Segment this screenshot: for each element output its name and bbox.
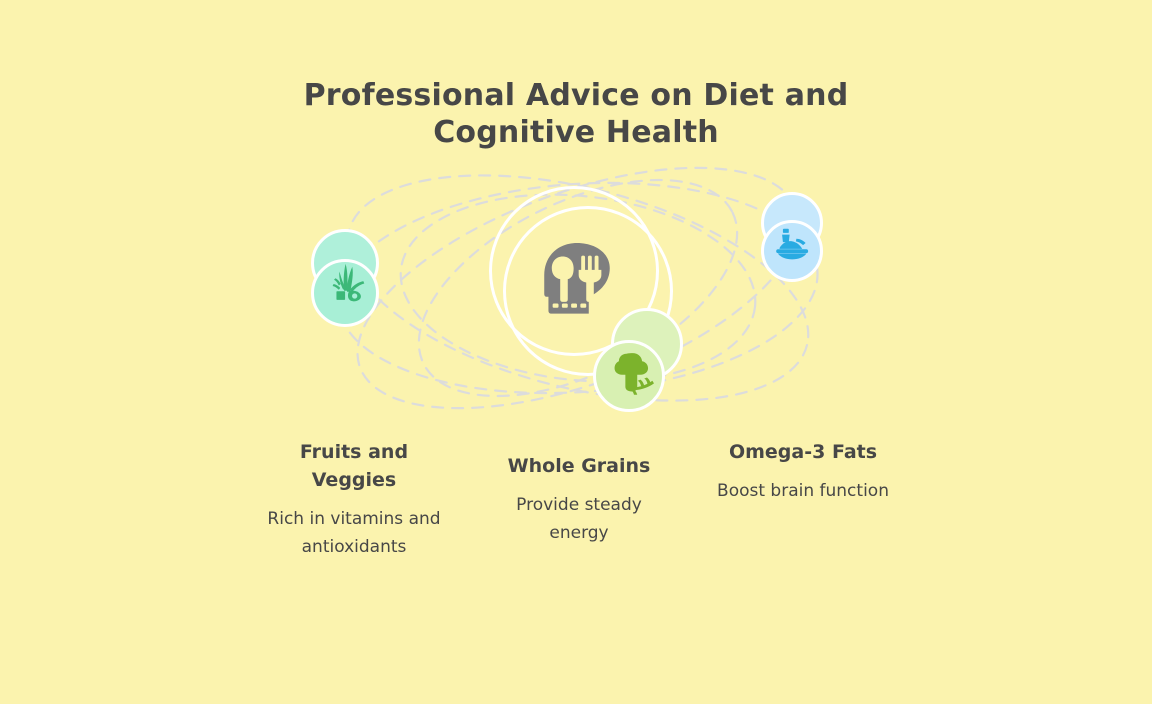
leafy-greens-icon: [323, 261, 371, 309]
caption-title-grains: Whole Grains: [486, 452, 672, 480]
caption-omega: Omega-3 Fats Boost brain function: [708, 438, 898, 506]
icon-cluster-omega: [757, 192, 829, 284]
caption-fruits: Fruits and Veggies Rich in vitamins and …: [258, 438, 450, 561]
icon-cluster-grains: [593, 308, 683, 413]
caption-title-fruits: Fruits and Veggies: [258, 438, 450, 494]
caption-grains: Whole Grains Provide steady energy: [486, 452, 672, 547]
caption-title-omega: Omega-3 Fats: [708, 438, 898, 466]
broccoli-icon: [607, 344, 661, 398]
slide-canvas: Professional Advice on Diet and Cognitiv…: [0, 0, 1152, 704]
icon-cluster-fruits: [305, 229, 383, 329]
caption-description-fruits: Rich in vitamins and antioxidants: [258, 506, 450, 561]
caption-description-omega: Boost brain function: [708, 478, 898, 506]
fish-dish-icon: [772, 222, 814, 264]
caption-description-grains: Provide steady energy: [486, 492, 672, 547]
page-title: Professional Advice on Diet and Cognitiv…: [226, 78, 926, 151]
